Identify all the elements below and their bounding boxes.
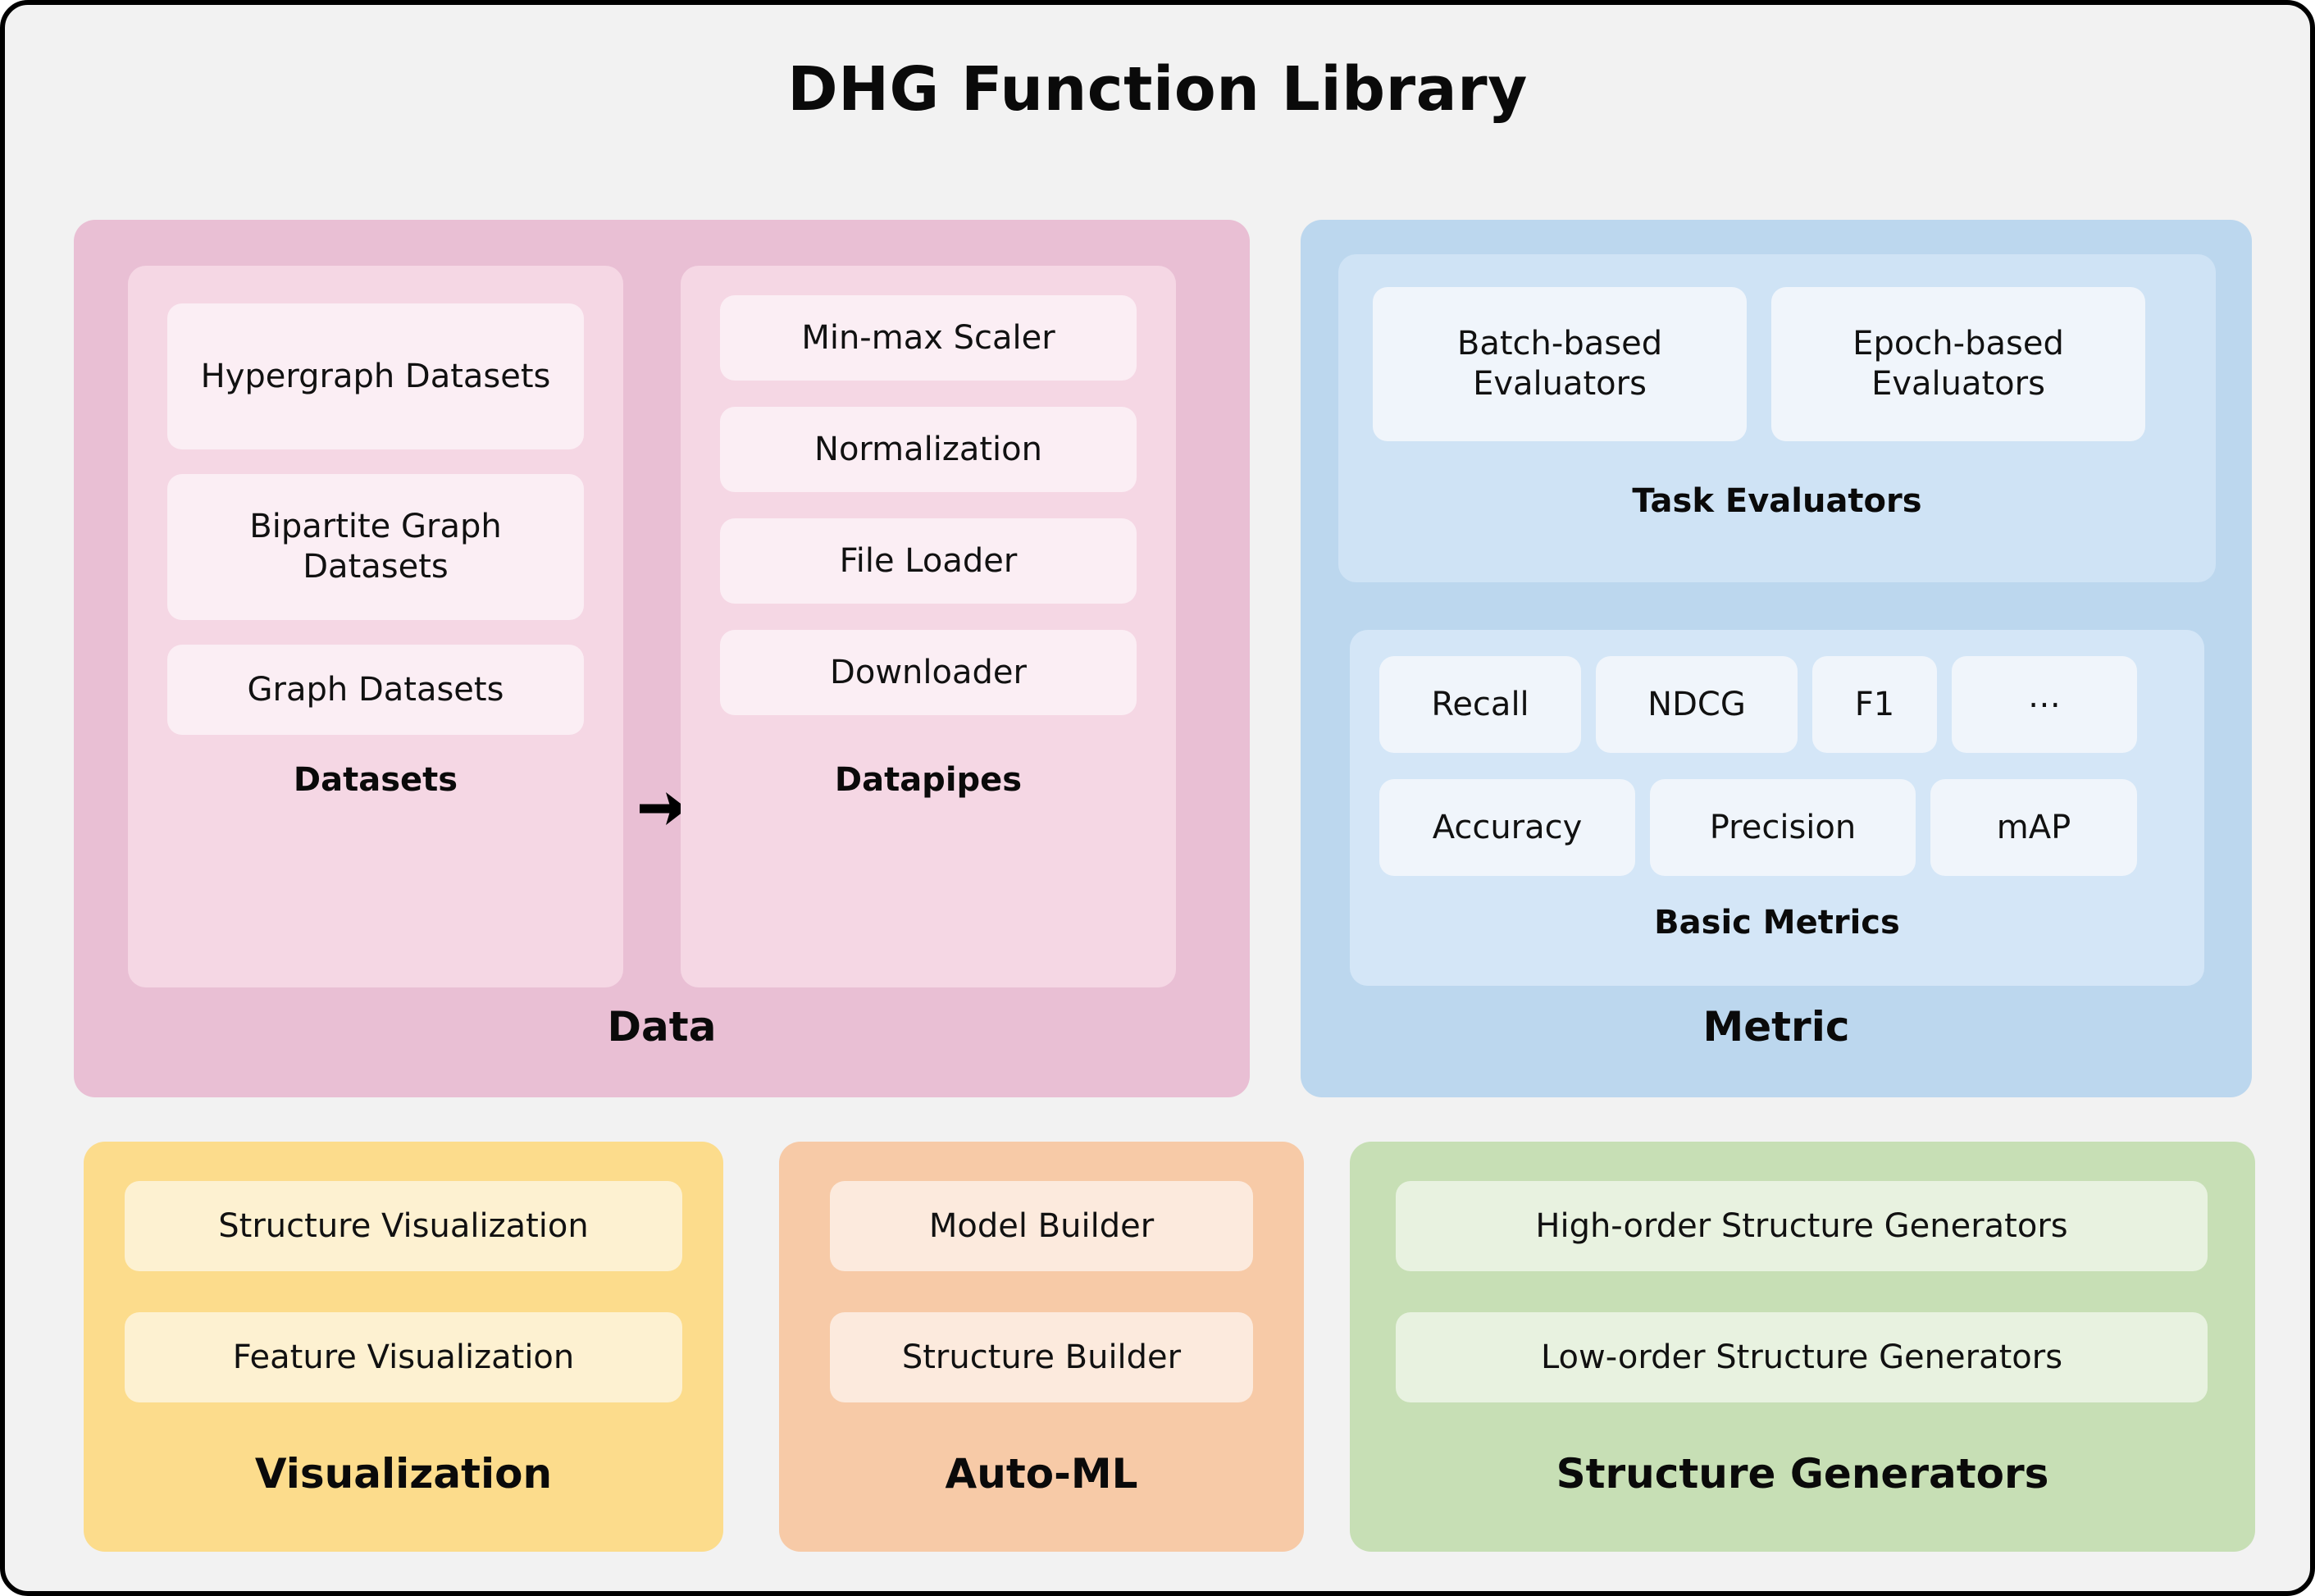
card-more-metrics[interactable]: ⋯ bbox=[1952, 656, 2137, 753]
panel-title-data: Data bbox=[74, 1003, 1250, 1051]
card-map[interactable]: mAP bbox=[1930, 779, 2137, 876]
card-structure-visualization[interactable]: Structure Visualization bbox=[125, 1181, 682, 1271]
card-precision[interactable]: Precision bbox=[1650, 779, 1916, 876]
card-model-builder[interactable]: Model Builder bbox=[830, 1181, 1253, 1271]
card-recall[interactable]: Recall bbox=[1379, 656, 1581, 753]
page-title: DHG Function Library bbox=[5, 54, 2310, 125]
subpanel-basic-metrics: Recall NDCG F1 ⋯ Accuracy Precision mAP … bbox=[1350, 630, 2204, 986]
card-downloader[interactable]: Downloader bbox=[720, 630, 1137, 715]
panel-title-automl: Auto-ML bbox=[779, 1450, 1304, 1498]
card-epoch-based-evaluators[interactable]: Epoch-based Evaluators bbox=[1771, 287, 2145, 441]
subpanel-title-datapipes: Datapipes bbox=[681, 761, 1176, 799]
card-f1[interactable]: F1 bbox=[1812, 656, 1937, 753]
card-file-loader[interactable]: File Loader bbox=[720, 518, 1137, 604]
subpanel-datasets: Hypergraph Datasets Bipartite Graph Data… bbox=[128, 266, 623, 987]
panel-automl: Model Builder Structure Builder Auto-ML bbox=[779, 1142, 1304, 1552]
panel-title-metric: Metric bbox=[1301, 1003, 2252, 1051]
panel-title-structure-generators: Structure Generators bbox=[1350, 1450, 2255, 1498]
panel-structure-generators: High-order Structure Generators Low-orde… bbox=[1350, 1142, 2255, 1552]
card-low-order-structure-generators[interactable]: Low-order Structure Generators bbox=[1396, 1312, 2208, 1402]
card-structure-builder[interactable]: Structure Builder bbox=[830, 1312, 1253, 1402]
panel-metric: Batch-based Evaluators Epoch-based Evalu… bbox=[1301, 220, 2252, 1097]
card-batch-based-evaluators[interactable]: Batch-based Evaluators bbox=[1373, 287, 1747, 441]
card-feature-visualization[interactable]: Feature Visualization bbox=[125, 1312, 682, 1402]
subpanel-title-basic-metrics: Basic Metrics bbox=[1350, 904, 2204, 942]
card-hypergraph-datasets[interactable]: Hypergraph Datasets bbox=[167, 303, 584, 449]
subpanel-title-task-evaluators: Task Evaluators bbox=[1338, 482, 2216, 520]
card-accuracy[interactable]: Accuracy bbox=[1379, 779, 1635, 876]
card-graph-datasets[interactable]: Graph Datasets bbox=[167, 645, 584, 735]
panel-data: Hypergraph Datasets Bipartite Graph Data… bbox=[74, 220, 1250, 1097]
subpanel-datapipes: Min-max Scaler Normalization File Loader… bbox=[681, 266, 1176, 987]
card-normalization[interactable]: Normalization bbox=[720, 407, 1137, 492]
card-ndcg[interactable]: NDCG bbox=[1596, 656, 1798, 753]
subpanel-task-evaluators: Batch-based Evaluators Epoch-based Evalu… bbox=[1338, 254, 2216, 582]
card-high-order-structure-generators[interactable]: High-order Structure Generators bbox=[1396, 1181, 2208, 1271]
card-min-max-scaler[interactable]: Min-max Scaler bbox=[720, 295, 1137, 381]
card-bipartite-graph-datasets[interactable]: Bipartite Graph Datasets bbox=[167, 474, 584, 620]
panel-visualization: Structure Visualization Feature Visualiz… bbox=[84, 1142, 723, 1552]
panel-title-visualization: Visualization bbox=[84, 1450, 723, 1498]
dhg-function-library-diagram: DHG Function Library Hypergraph Datasets… bbox=[0, 0, 2315, 1596]
subpanel-title-datasets: Datasets bbox=[128, 761, 623, 799]
